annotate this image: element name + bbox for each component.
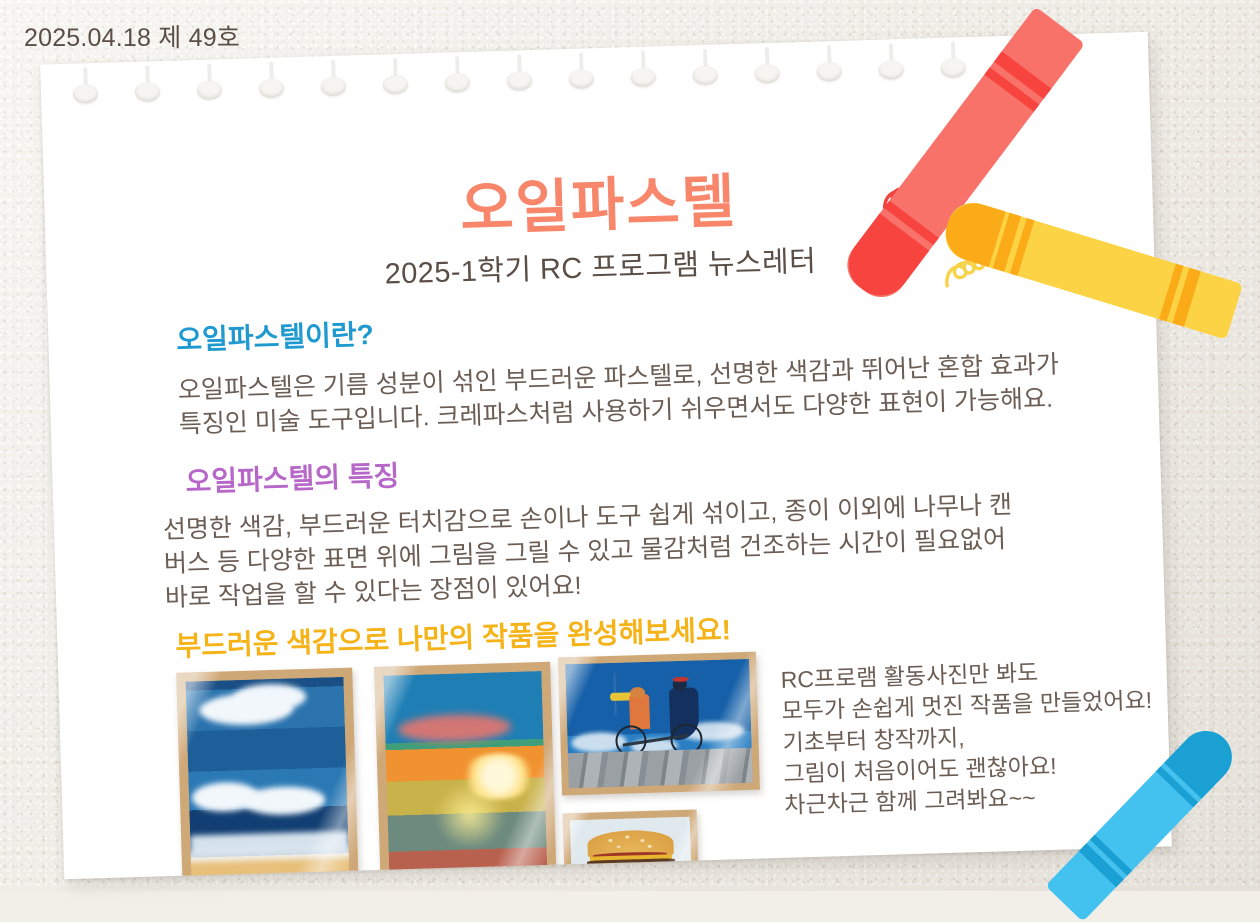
gallery-caption: RC프로램 활동사진만 봐도 모두가 손쉽게 멋진 작품을 만들었어요! 기초부… [780,654,1155,821]
spiral-ring [140,65,154,109]
issue-date: 2025.04.18 제 49호 [24,18,240,54]
gallery-item-sunset [374,662,557,880]
spiral-ring [698,49,712,93]
spiral-ring [78,67,92,111]
spiral-ring [636,51,650,95]
gallery-item-bicycle [558,652,760,796]
section-body: 선명한 색감, 부드러운 터치감으로 손이나 도구 쉽게 섞이고, 종이 이외에… [163,484,1151,615]
spiral-ring [264,62,278,106]
gallery-item-beach [176,668,359,880]
spiral-ring [946,41,960,85]
spiral-ring [388,58,402,102]
section-features: 오일파스텔의 특징 선명한 색감, 부드러운 터치감으로 손이나 도구 쉽게 섞… [185,432,1150,614]
spiral-ring [326,60,340,104]
spiral-ring [760,47,774,91]
spiral-ring [822,45,836,89]
spiral-ring [450,56,464,100]
newsletter-page: 오일파스텔 2025-1학기 RC 프로그램 뉴스레터 오일파스텔이란? 오일파… [40,32,1172,880]
spiral-ring [884,43,898,87]
section-body: 오일파스텔은 기름 성분이 섞인 부드러운 파스텔로, 선명한 색감과 뛰어난 … [177,345,1159,442]
spiral-ring [512,54,526,98]
section-what-is-oil-pastel: 오일파스텔이란? 오일파스텔은 기름 성분이 섞인 부드러운 파스텔로, 선명한… [176,290,1159,442]
spiral-ring [202,63,216,107]
spiral-ring [574,52,588,96]
